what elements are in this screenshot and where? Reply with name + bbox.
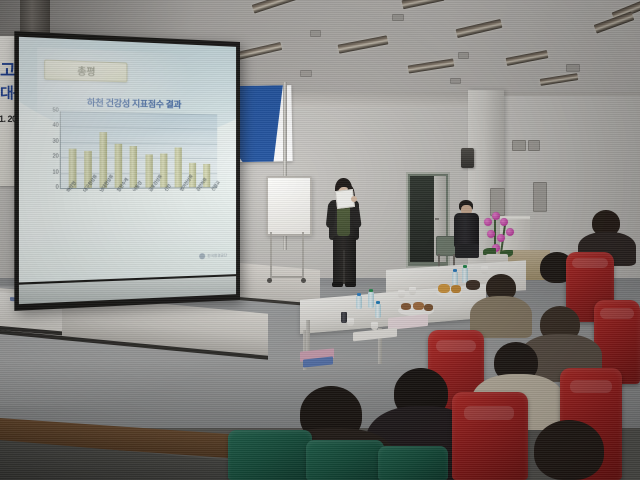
projection-screen: 총평 하천 건강성 지표점수 결과 50 40 30 20 10 0: [14, 31, 240, 311]
chart-bar: [160, 153, 167, 187]
ceiling-vent: [458, 52, 469, 59]
water-bottle: [452, 272, 458, 286]
water-bottle: [375, 304, 381, 318]
seat-highlight: [436, 340, 476, 352]
y-axis-tick: 0: [56, 185, 59, 190]
food-item: [451, 285, 461, 293]
orchid-bloom: [492, 212, 500, 220]
y-axis-tick: 40: [52, 124, 58, 129]
logo-mark-icon: [199, 253, 205, 259]
seat-highlight: [464, 406, 514, 420]
y-axis-tick: 10: [52, 170, 58, 175]
doorway-opening: [410, 176, 434, 262]
ceiling-vent: [300, 70, 312, 77]
paper-cup: [398, 290, 405, 298]
chart-bar: [175, 148, 182, 188]
seat-highlight: [570, 380, 612, 393]
bottle-cap: [376, 301, 380, 304]
food-item: [413, 302, 424, 310]
whiteboard-stand-crossbar: [270, 276, 304, 278]
slide-title-box: 총평: [44, 59, 127, 82]
chart-x-axis-labels: 하양천대구천상류남대천상류청천수계낙동강금호강상류신천범어천상류감천하류신월교: [60, 189, 224, 237]
ceiling-vent: [392, 14, 404, 21]
whiteboard-stand-leg: [270, 232, 272, 280]
orchid-bloom: [500, 218, 508, 226]
audience-head: [534, 420, 604, 480]
presenter-leg-split: [343, 250, 345, 284]
ceiling-vent: [566, 64, 580, 72]
paper-cup: [481, 266, 488, 274]
wall-speaker: [461, 148, 474, 168]
whiteboard-caster-wheel: [301, 278, 306, 283]
presenter-shoe: [345, 282, 356, 287]
food-item: [401, 303, 411, 310]
seat-highlight: [600, 308, 634, 319]
orchid-bloom: [497, 234, 505, 242]
bottle-cap: [463, 265, 467, 268]
presentation-room-photo: 고 대 대구 · 1. 20(금) 1 발표회 표회 경북대학교 환경대학원 총…: [0, 0, 640, 480]
bottle-cap: [357, 293, 361, 296]
paper-cup: [347, 318, 354, 326]
presenter-standing: [322, 178, 366, 290]
wall-outlet-panel: [533, 182, 547, 212]
presenter-shoe: [332, 282, 343, 287]
wall-panel-box: [528, 140, 540, 151]
whiteboard-stand-leg: [302, 232, 304, 280]
slide-title-text: 총평: [77, 64, 95, 78]
orchid-bloom: [506, 228, 514, 236]
wall-panel-box: [512, 140, 526, 151]
y-axis-tick: 20: [52, 155, 58, 160]
bottle-cap: [369, 289, 373, 292]
y-axis-tick: 50: [52, 108, 58, 113]
food-item: [466, 280, 480, 290]
logo-text: 한국환경공단: [207, 253, 227, 259]
orchid-bloom: [487, 230, 495, 238]
presentation-slide: 총평 하천 건강성 지표점수 결과 50 40 30 20 10 0: [19, 37, 236, 283]
presenter-hand: [351, 196, 357, 202]
water-bottle: [368, 292, 374, 308]
flipchart-whiteboard: [266, 176, 312, 236]
food-item: [438, 284, 450, 293]
orchid-plant: [478, 208, 518, 268]
y-axis-tick: 30: [52, 139, 58, 144]
bar-chart-plot-area: 50 40 30 20 10 0: [60, 111, 217, 189]
seat-highlight: [572, 258, 608, 268]
whiteboard-caster-wheel: [267, 278, 272, 283]
green-auditorium-seat[interactable]: [228, 430, 312, 480]
paper-cup: [409, 287, 416, 295]
water-bottle: [356, 296, 362, 309]
projection-screen-surface: 총평 하천 건강성 지표점수 결과 50 40 30 20 10 0: [19, 37, 236, 283]
seated-man-coat: [454, 213, 479, 247]
bottle-cap: [453, 269, 457, 272]
seated-man-lap: [455, 244, 479, 258]
food-item: [424, 304, 433, 311]
orchid-bloom: [484, 218, 492, 226]
ceiling-vent: [450, 78, 461, 84]
ceiling-vent: [310, 30, 321, 37]
green-auditorium-seat[interactable]: [306, 440, 384, 480]
slide-logo: 한국환경공단: [199, 252, 227, 259]
green-auditorium-seat[interactable]: [378, 446, 448, 480]
door-handle[interactable]: [435, 218, 439, 220]
